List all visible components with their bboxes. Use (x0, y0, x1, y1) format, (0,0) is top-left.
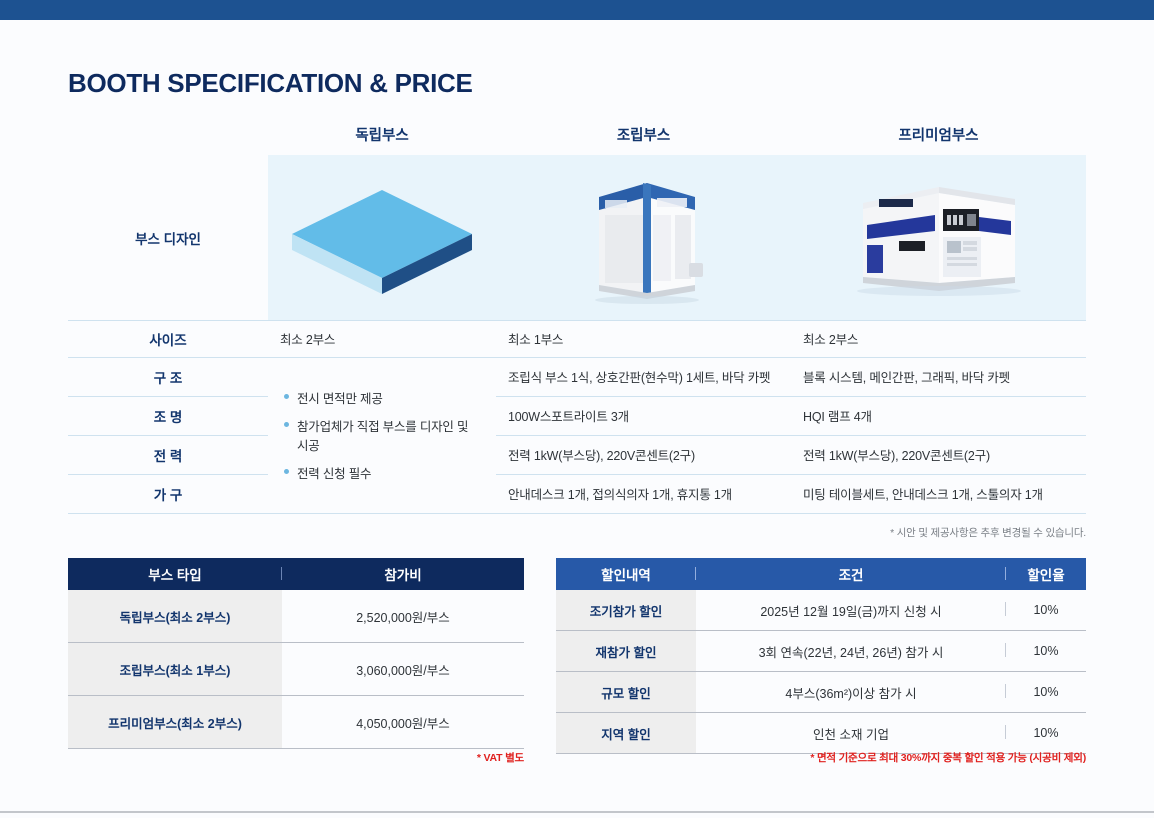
assembled-furniture-value: 안내데스크 1개, 접의식의자 1개, 휴지통 1개 (496, 474, 791, 513)
bottom-divider (0, 811, 1154, 813)
discount-name-repeat: 재참가 할인 (556, 631, 696, 672)
table-row: 프리미엄부스(최소 2부스) 4,050,000원/부스 (68, 696, 524, 749)
discount-name-early: 조기참가 할인 (556, 590, 696, 631)
spec-header-row: 독립부스 조립부스 프리미엄부스 (68, 118, 1086, 155)
spec-row-structure: 구 조 전시 면적만 제공 참가업체가 직접 부스를 디자인 및 시공 전력 신… (68, 357, 1086, 396)
table-row: 재참가 할인 3회 연속(22년, 24년, 26년) 참가 시 10% (556, 631, 1086, 672)
assembled-booth-photo (496, 156, 791, 318)
independent-size-value: 최소 2부스 (268, 320, 496, 357)
table-row: 독립부스(최소 2부스) 2,520,000원/부스 (68, 590, 524, 643)
spec-row-label-lighting: 조 명 (68, 396, 268, 435)
price-header-row: 부스 타입 참가비 (68, 558, 524, 590)
assembled-size-value: 최소 1부스 (496, 320, 791, 357)
premium-booth-photo-icon (839, 173, 1039, 301)
discount-name-region: 지역 할인 (556, 713, 696, 754)
discount-condition-scale: 4부스(36m²)이상 참가 시 (696, 672, 1006, 713)
price-header-type: 부스 타입 (68, 558, 282, 590)
table-row: 지역 할인 인천 소재 기업 10% (556, 713, 1086, 754)
discount-table-note: * 면적 기준으로 최대 30%까지 중복 할인 적용 가능 (시공비 제외) (556, 750, 1086, 765)
premium-booth-photo (791, 156, 1086, 318)
premium-booth-image-cell (791, 155, 1086, 320)
price-type-independent: 독립부스(최소 2부스) (68, 590, 282, 643)
price-type-premium: 프리미엄부스(최소 2부스) (68, 696, 282, 749)
spec-row-design: 부스 디자인 (68, 155, 1086, 320)
spec-header-blank (68, 118, 268, 155)
discount-rate-repeat: 10% (1006, 631, 1086, 672)
independent-booth-image-cell (268, 155, 496, 320)
spec-col-header-assembled: 조립부스 (496, 118, 791, 155)
list-item: 참가업체가 직접 부스를 디자인 및 시공 (284, 416, 482, 454)
assembled-booth-image-cell (496, 155, 791, 320)
discount-condition-region: 인천 소재 기업 (696, 713, 1006, 754)
list-item: 전력 신청 필수 (284, 463, 482, 482)
price-type-assembled: 조립부스(최소 1부스) (68, 643, 282, 696)
spec-row-power: 전 력 전력 1kW(부스당), 220V콘센트(2구) 전력 1kW(부스당)… (68, 435, 1086, 474)
discount-rate-region: 10% (1006, 713, 1086, 754)
discount-name-scale: 규모 할인 (556, 672, 696, 713)
spec-row-label-power: 전 력 (68, 435, 268, 474)
discount-header-rate: 할인율 (1006, 558, 1086, 590)
assembled-lighting-value: 100W스포트라이트 3개 (496, 396, 791, 435)
list-item: 전시 면적만 제공 (284, 388, 482, 407)
assembled-structure-value: 조립식 부스 1식, 상호간판(현수막) 1세트, 바닥 카펫 (496, 357, 791, 396)
discount-condition-early: 2025년 12월 19일(금)까지 신청 시 (696, 590, 1006, 631)
price-fee-premium: 4,050,000원/부스 (282, 696, 524, 749)
independent-features-list: 전시 면적만 제공 참가업체가 직접 부스를 디자인 및 시공 전력 신청 필수 (268, 357, 496, 513)
discount-table: 할인내역 조건 할인율 조기참가 할인 2025년 12월 19일(금)까지 신… (556, 558, 1086, 754)
booth-price-table: 부스 타입 참가비 독립부스(최소 2부스) 2,520,000원/부스 조립부… (68, 558, 524, 749)
table-row: 조립부스(최소 1부스) 3,060,000원/부스 (68, 643, 524, 696)
discount-header-name: 할인내역 (556, 558, 696, 590)
discount-header-row: 할인내역 조건 할인율 (556, 558, 1086, 590)
premium-lighting-value: HQI 램프 4개 (791, 396, 1086, 435)
spec-row-label-furniture: 가 구 (68, 474, 268, 513)
spec-col-header-premium: 프리미엄부스 (791, 118, 1086, 155)
spec-row-label-size: 사이즈 (68, 320, 268, 357)
spec-row-label-structure: 구 조 (68, 357, 268, 396)
premium-furniture-value: 미팅 테이블세트, 안내데스크 1개, 스툴의자 1개 (791, 474, 1086, 513)
spec-row-lighting: 조 명 100W스포트라이트 3개 HQI 램프 4개 (68, 396, 1086, 435)
discount-condition-repeat: 3회 연속(22년, 24년, 26년) 참가 시 (696, 631, 1006, 672)
premium-structure-value: 블록 시스템, 메인간판, 그래픽, 바닥 카펫 (791, 357, 1086, 396)
assembled-power-value: 전력 1kW(부스당), 220V콘센트(2구) (496, 435, 791, 474)
independent-booth-illustration (268, 156, 496, 318)
spec-table-note: * 시안 및 제공사항은 추후 변경될 수 있습니다. (68, 525, 1086, 540)
price-fee-independent: 2,520,000원/부스 (282, 590, 524, 643)
discount-rate-early: 10% (1006, 590, 1086, 631)
booth-spec-table: 독립부스 조립부스 프리미엄부스 부스 디자인 (68, 118, 1086, 514)
page-title: BOOTH SPECIFICATION & PRICE (68, 68, 473, 99)
isometric-slab-icon (282, 172, 482, 302)
discount-rate-scale: 10% (1006, 672, 1086, 713)
page-content: BOOTH SPECIFICATION & PRICE 독립부스 조립부스 프리… (0, 20, 1154, 811)
top-accent-bar (0, 0, 1154, 20)
spec-row-furniture: 가 구 안내데스크 1개, 접의식의자 1개, 휴지통 1개 미팅 테이블세트,… (68, 474, 1086, 513)
price-header-fee: 참가비 (282, 558, 524, 590)
spec-row-label-design: 부스 디자인 (68, 155, 268, 320)
table-row: 규모 할인 4부스(36m²)이상 참가 시 10% (556, 672, 1086, 713)
table-row: 조기참가 할인 2025년 12월 19일(금)까지 신청 시 10% (556, 590, 1086, 631)
spec-col-header-independent: 독립부스 (268, 118, 496, 155)
modular-booth-photo-icon (569, 167, 719, 307)
discount-header-condition: 조건 (696, 558, 1006, 590)
premium-size-value: 최소 2부스 (791, 320, 1086, 357)
price-fee-assembled: 3,060,000원/부스 (282, 643, 524, 696)
spec-row-size: 사이즈 최소 2부스 최소 1부스 최소 2부스 (68, 320, 1086, 357)
premium-power-value: 전력 1kW(부스당), 220V콘센트(2구) (791, 435, 1086, 474)
price-table-note: * VAT 별도 (68, 750, 524, 765)
